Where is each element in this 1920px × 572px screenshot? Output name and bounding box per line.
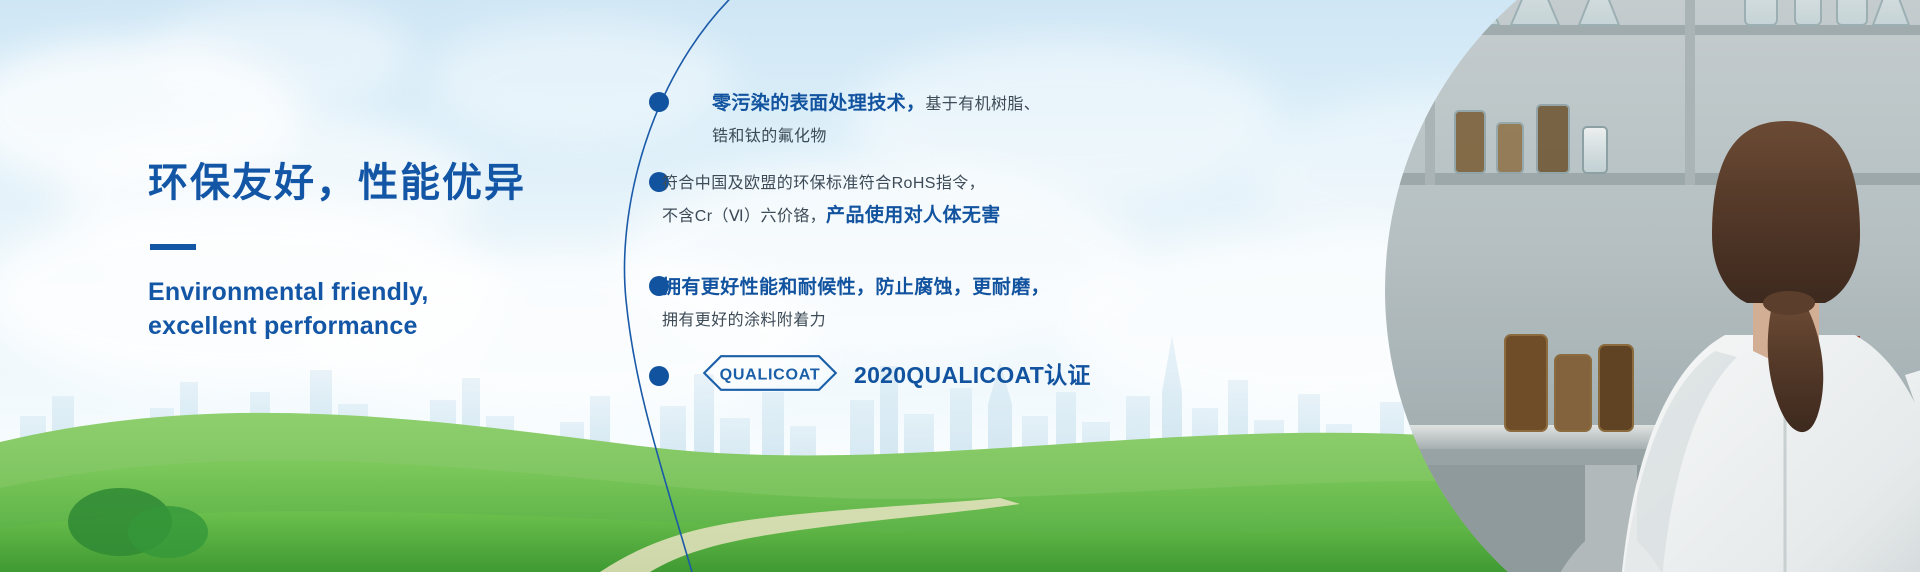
promotional-banner: 环保友好，性能优异 Environmental friendly, excell… bbox=[0, 0, 1920, 572]
certification-row: QUALICOAT 2020QUALICOAT认证 bbox=[700, 352, 1091, 394]
feature-line-2: 拥有更好的涂料附着力 bbox=[662, 305, 1050, 337]
certification-label: 2020QUALICOAT认证 bbox=[854, 356, 1091, 390]
feature-2-normal-2: 不含Cr（Ⅵ）六价铬， bbox=[662, 208, 826, 225]
feature-line-2: 不含Cr（Ⅵ）六价铬，产品使用对人体无害 bbox=[662, 200, 1001, 233]
feature-3-bold-1: 拥有更好性能和耐候性，防止腐蚀，更耐磨， bbox=[662, 277, 1050, 298]
feature-line-1: 拥有更好性能和耐候性，防止腐蚀，更耐磨， bbox=[662, 272, 1050, 305]
title-divider-rule bbox=[150, 244, 196, 250]
qualicoat-logo-text: QUALICOAT bbox=[720, 365, 821, 383]
feature-1-normal-1: 基于有机树脂、 bbox=[925, 96, 1040, 113]
feature-2-bold-2: 产品使用对人体无害 bbox=[826, 205, 1001, 226]
qualicoat-logo-icon: QUALICOAT bbox=[700, 352, 840, 394]
circular-photo-mask bbox=[1385, 0, 1920, 572]
feature-3-normal-2: 拥有更好的涂料附着力 bbox=[662, 312, 826, 329]
laboratory-scientist-photo bbox=[1385, 0, 1920, 572]
feature-2-normal-1: 符合中国及欧盟的环保标准符合RoHS指令， bbox=[662, 175, 985, 192]
feature-1-normal-2: 锆和钛的氟化物 bbox=[712, 128, 827, 145]
feature-line-2: 锆和钛的氟化物 bbox=[712, 121, 1040, 153]
bullet-dot-icon bbox=[649, 366, 669, 386]
bullet-dot-icon bbox=[649, 92, 669, 112]
feature-line-1: 符合中国及欧盟的环保标准符合RoHS指令， bbox=[662, 168, 1001, 200]
feature-line-1: 零污染的表面处理技术，基于有机树脂、 bbox=[712, 88, 1040, 121]
lab-photo-container bbox=[1100, 0, 1920, 572]
feature-1-bold-1: 零污染的表面处理技术， bbox=[712, 93, 925, 114]
